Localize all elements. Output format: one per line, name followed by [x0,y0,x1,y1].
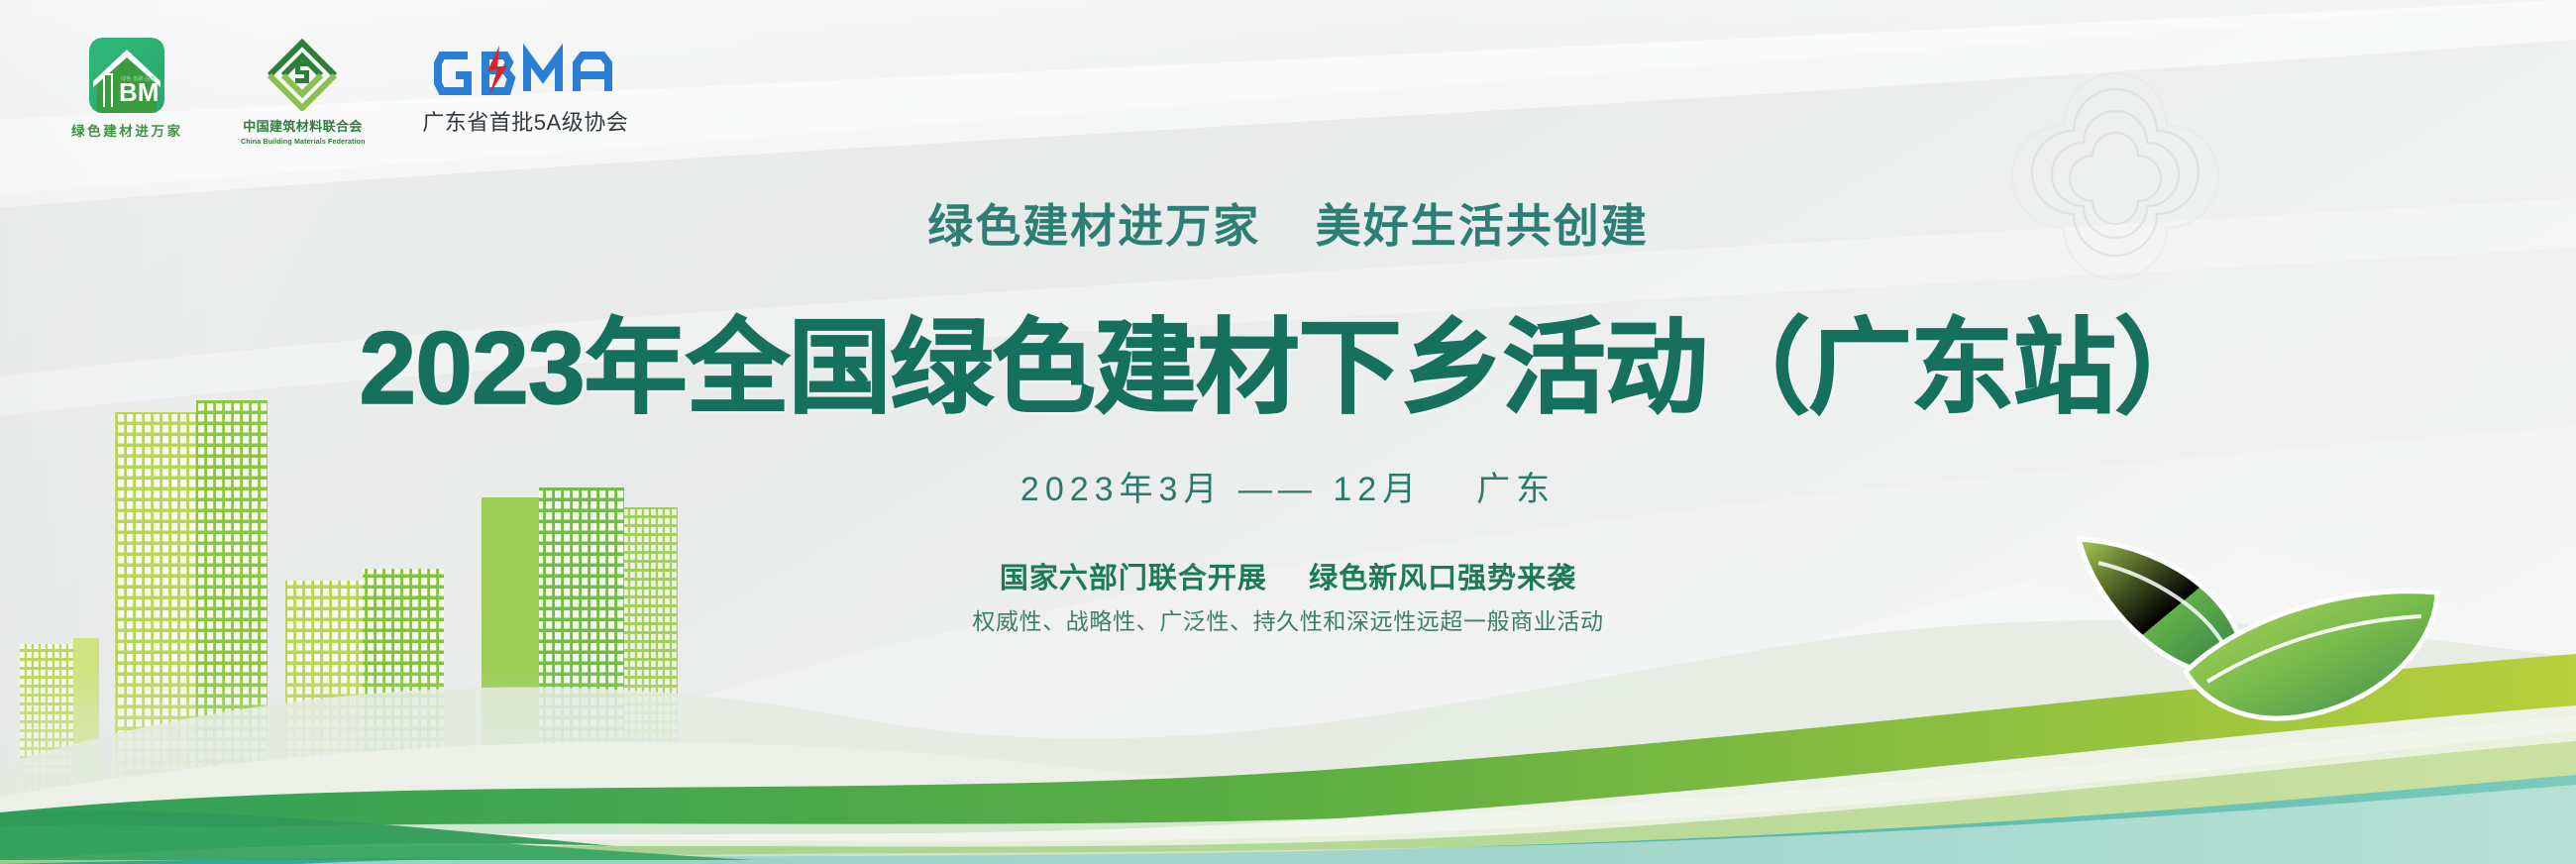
subtitle-light: 权威性、战略性、广泛性、持久性和深远性远超一般商业活动 [0,602,2576,636]
logo-row: BM 绿色·低碳·品质 绿色建材进万家 中国建筑材料联合会 [71,38,628,146]
logo-caption-en: China Building Materials Federation [241,137,366,146]
date-location-line: 2023年3月 —— 12月 广东 [0,462,2576,510]
green-house-bm-icon: BM 绿色·低碳·品质 [89,38,164,113]
cbmf-diamond-icon [266,38,339,111]
gbma-logo: 广东省首批5A级协会 [422,38,628,137]
tagline: 绿色建材进万家 美好生活共创建 [0,190,2576,256]
tagline-part-2: 美好生活共创建 [1316,200,1649,252]
two-leaves-graphic [2041,501,2556,779]
page-title: 2023年全国绿色建材下乡活动（广东站） [0,283,2576,433]
gbma-wordmark-icon [428,44,622,101]
subtitle-bold: 国家六部门联合开展 绿色新风口强势来袭 [0,555,2576,596]
logo-caption: 广东省首批5A级协会 [422,105,628,137]
event-period: 2023年3月 —— 12月 [1020,471,1422,508]
logo-caption-cn: 中国建筑材料联合会 [243,116,363,135]
cbmf-logo: 中国建筑材料联合会 China Building Materials Feder… [239,38,368,146]
tagline-part-1: 绿色建材进万家 [927,200,1260,252]
subtitle-bold-part-1: 国家六部门联合开展 [1000,563,1267,594]
event-region: 广东 [1476,471,1556,508]
green-building-materials-logo: BM 绿色·低碳·品质 绿色建材进万家 [71,38,183,140]
logo-caption: 绿色建材进万家 [71,120,183,140]
quatrefoil-watermark-icon [1967,50,2264,302]
svg-text:绿色·低碳·品质: 绿色·低碳·品质 [121,74,156,82]
subtitle-bold-part-2: 绿色新风口强势来袭 [1309,563,1576,594]
promotional-banner: BM 绿色·低碳·品质 绿色建材进万家 中国建筑材料联合会 [0,0,2576,864]
